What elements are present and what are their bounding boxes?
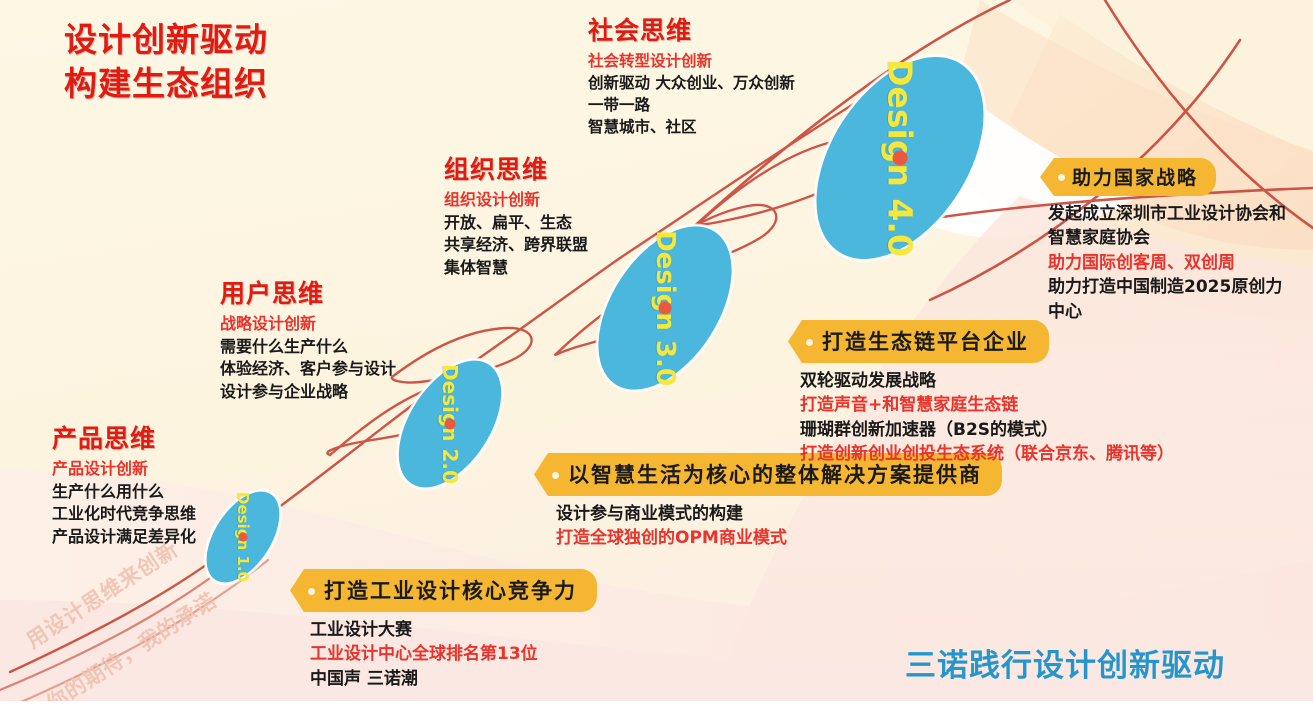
thinking-title-social: 社会思维 bbox=[588, 16, 795, 46]
thinking-line: 生产什么用什么 bbox=[52, 481, 196, 504]
callout-ecosystem-platform: 打造生态链平台企业 双轮驱动发展战略 打造声音+和智慧家庭生态链 珊瑚群创新加速… bbox=[788, 320, 1174, 467]
callout-tag-national-strategy[interactable]: 助力国家战略 bbox=[1040, 158, 1216, 196]
callout-body: 工业设计大赛 工业设计中心全球排名第13位 中国声 三诺潮 bbox=[290, 618, 597, 691]
callout-tag-label: 打造工业设计核心竞争力 bbox=[324, 579, 577, 603]
tag-hole-icon bbox=[308, 588, 315, 595]
thinking-line: 智慧城市、社区 bbox=[588, 116, 795, 138]
callout-line: 打造声音+和智慧家庭生态链 bbox=[800, 393, 1174, 417]
bottom-white-strip bbox=[0, 701, 1313, 727]
callout-tag-ecosystem-platform[interactable]: 打造生态链平台企业 bbox=[788, 320, 1049, 363]
thinking-title-product: 产品思维 bbox=[52, 424, 196, 454]
thinking-line: 共享经济、跨界联盟 bbox=[444, 234, 588, 257]
callout-body: 设计参与商业模式的构建 打造全球独创的OPM商业模式 bbox=[534, 502, 1002, 551]
tag-hole-icon bbox=[1058, 174, 1065, 181]
callout-tag-core-competitiveness[interactable]: 打造工业设计核心竞争力 bbox=[290, 569, 597, 612]
callout-body: 双轮驱动发展战略 打造声音+和智慧家庭生态链 珊瑚群创新加速器（B2S的模式） … bbox=[788, 369, 1174, 467]
thinking-line: 集体智慧 bbox=[444, 257, 588, 280]
callout-smart-life-solution: 以智慧生活为核心的整体解决方案提供商 设计参与商业模式的构建 打造全球独创的OP… bbox=[534, 453, 1002, 551]
callout-body: 发起成立深圳市工业设计协会和 智慧家庭协会 助力国际创客周、双创周 助力打造中国… bbox=[1040, 202, 1286, 324]
thinking-block-social: 社会思维 社会转型设计创新 创新驱动 大众创业、万众创新 一带一路 智慧城市、社… bbox=[588, 16, 795, 138]
callout-tag-label: 打造生态链平台企业 bbox=[822, 330, 1029, 354]
thinking-subtitle-organization: 组织设计创新 bbox=[444, 189, 588, 212]
callout-line: 设计参与商业模式的构建 bbox=[556, 502, 1002, 526]
callout-line: 智慧家庭协会 bbox=[1048, 226, 1286, 250]
callout-tag-label: 助力国家战略 bbox=[1072, 167, 1198, 189]
thinking-block-user: 用户思维 战略设计创新 需要什么生产什么 体验经济、客户参与设计 设计参与企业战… bbox=[220, 279, 396, 404]
callout-core-competitiveness: 打造工业设计核心竞争力 工业设计大赛 工业设计中心全球排名第13位 中国声 三诺… bbox=[290, 569, 597, 691]
thinking-title-organization: 组织思维 bbox=[444, 155, 588, 185]
thinking-line: 产品设计满足差异化 bbox=[52, 526, 196, 549]
thinking-title-user: 用户思维 bbox=[220, 279, 396, 309]
callout-line: 珊瑚群创新加速器（B2S的模式） bbox=[800, 418, 1174, 442]
callout-line: 发起成立深圳市工业设计协会和 bbox=[1048, 202, 1286, 226]
callout-line: 工业设计大赛 bbox=[310, 618, 597, 642]
page-title-line-1: 设计创新驱动 bbox=[64, 18, 268, 62]
thinking-subtitle-product: 产品设计创新 bbox=[52, 458, 196, 481]
callout-line: 中心 bbox=[1048, 300, 1286, 324]
thinking-block-organization: 组织思维 组织设计创新 开放、扁平、生态 共享经济、跨界联盟 集体智慧 bbox=[444, 155, 588, 280]
page-title-line-2: 构建生态组织 bbox=[64, 62, 268, 106]
thinking-line: 创新驱动 大众创业、万众创新 bbox=[588, 72, 795, 94]
thinking-line: 体验经济、客户参与设计 bbox=[220, 358, 396, 381]
thinking-block-product: 产品思维 产品设计创新 生产什么用什么 工业化时代竞争思维 产品设计满足差异化 bbox=[52, 424, 196, 549]
callout-line: 助力打造中国制造2025原创力 bbox=[1048, 275, 1286, 299]
footer-slogan: 三诺践行设计创新驱动 bbox=[905, 640, 1225, 685]
thinking-line: 工业化时代竞争思维 bbox=[52, 503, 196, 526]
callout-line: 助力国际创客周、双创周 bbox=[1048, 251, 1286, 275]
page-title: 设计创新驱动 构建生态组织 bbox=[64, 18, 268, 106]
callout-national-strategy: 助力国家战略 发起成立深圳市工业设计协会和 智慧家庭协会 助力国际创客周、双创周… bbox=[1040, 158, 1286, 324]
infographic-canvas: 用设计思维来创新 你的期待，我的承诺 设计创新驱动 构建生态组织 产品思维 产品… bbox=[0, 0, 1313, 727]
callout-line: 工业设计中心全球排名第13位 bbox=[310, 642, 597, 666]
callout-line: 打造创新创业创投生态系统（联合京东、腾讯等） bbox=[800, 442, 1174, 466]
thinking-subtitle-user: 战略设计创新 bbox=[220, 313, 396, 336]
thinking-line: 设计参与企业战略 bbox=[220, 381, 396, 404]
thinking-line: 需要什么生产什么 bbox=[220, 336, 396, 359]
callout-line: 双轮驱动发展战略 bbox=[800, 369, 1174, 393]
callout-line: 打造全球独创的OPM商业模式 bbox=[556, 526, 1002, 550]
thinking-subtitle-social: 社会转型设计创新 bbox=[588, 50, 795, 72]
thinking-line: 一带一路 bbox=[588, 94, 795, 116]
thinking-line: 开放、扁平、生态 bbox=[444, 212, 588, 235]
callout-line: 中国声 三诺潮 bbox=[310, 667, 597, 691]
tag-hole-icon bbox=[806, 339, 813, 346]
tag-hole-icon bbox=[552, 472, 559, 479]
